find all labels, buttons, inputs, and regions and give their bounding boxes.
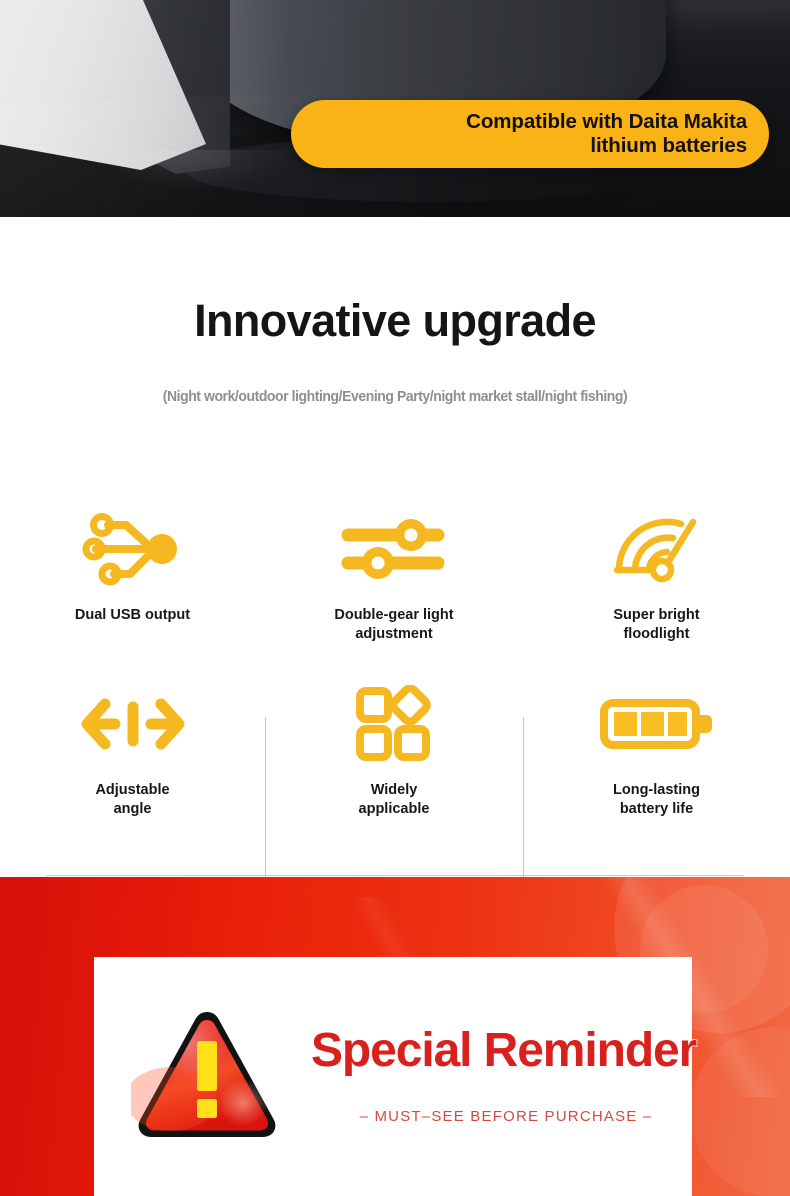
hero-product-photo: Compatible with Daita Makita lithium bat… xyxy=(0,0,790,217)
battery-full-icon xyxy=(599,681,715,767)
feature-label: Super bright floodlight xyxy=(613,606,699,643)
sliders-icon xyxy=(338,506,450,592)
product-listing-page: Compatible with Daita Makita lithium bat… xyxy=(0,0,790,1196)
feature-item-dual-usb-output: Dual USB output xyxy=(0,500,265,675)
features-grid: Dual USB output Double-gear ligh xyxy=(0,500,790,832)
shapes-grid-icon xyxy=(354,681,434,767)
feature-label: Long-lasting battery life xyxy=(613,781,700,818)
warning-triangle-icon xyxy=(131,1003,283,1145)
feature-label-line-2: adjustment xyxy=(355,626,432,642)
left-right-arrows-icon xyxy=(77,681,189,767)
features-section: Innovative upgrade (Night work/outdoor l… xyxy=(0,217,790,877)
section-subtitle: (Night work/outdoor lighting/Evening Par… xyxy=(14,389,776,405)
feature-label: Double-gear light adjustment xyxy=(334,606,453,643)
feature-item-adjustable-angle: Adjustable angle xyxy=(0,675,265,832)
brightness-gauge-icon xyxy=(605,506,709,592)
badge-line-2: lithium batteries xyxy=(590,134,747,157)
feature-label-line-2: floodlight xyxy=(623,626,689,642)
grid-divider-horizontal xyxy=(46,875,744,876)
feature-label: Dual USB output xyxy=(75,606,190,625)
reminder-subtitle: – MUST–SEE BEFORE PURCHASE – xyxy=(311,1108,701,1125)
section-title: Innovative upgrade xyxy=(0,295,790,347)
badge-line-1: Compatible with Daita Makita xyxy=(466,110,747,133)
feature-label-line-2: battery life xyxy=(620,801,693,817)
usb-icon xyxy=(78,506,188,592)
feature-label-line-1: Widely xyxy=(371,782,418,798)
feature-item-super-bright-floodlight: Super bright floodlight xyxy=(523,500,790,675)
feature-label-line-1: Double-gear light xyxy=(334,607,453,623)
badge-text: Compatible with Daita Makita lithium bat… xyxy=(466,110,747,158)
feature-item-long-lasting-battery-life: Long-lasting battery life xyxy=(523,675,790,832)
feature-label-line-2: applicable xyxy=(359,801,430,817)
reminder-title: Special Reminder xyxy=(311,1027,790,1075)
feature-label: Adjustable angle xyxy=(95,781,169,818)
feature-item-double-gear-light-adjustment: Double-gear light adjustment xyxy=(265,500,523,675)
feature-label-line-1: Super bright xyxy=(613,607,699,623)
feature-label: Widely applicable xyxy=(359,781,430,818)
feature-label-line-1: Long-lasting xyxy=(613,782,700,798)
feature-item-widely-applicable: Widely applicable xyxy=(265,675,523,832)
feature-label-line-1: Dual USB output xyxy=(75,607,190,623)
feature-label-line-2: angle xyxy=(114,801,152,817)
battery-compatibility-badge: Compatible with Daita Makita lithium bat… xyxy=(291,100,769,168)
feature-label-line-1: Adjustable xyxy=(95,782,169,798)
